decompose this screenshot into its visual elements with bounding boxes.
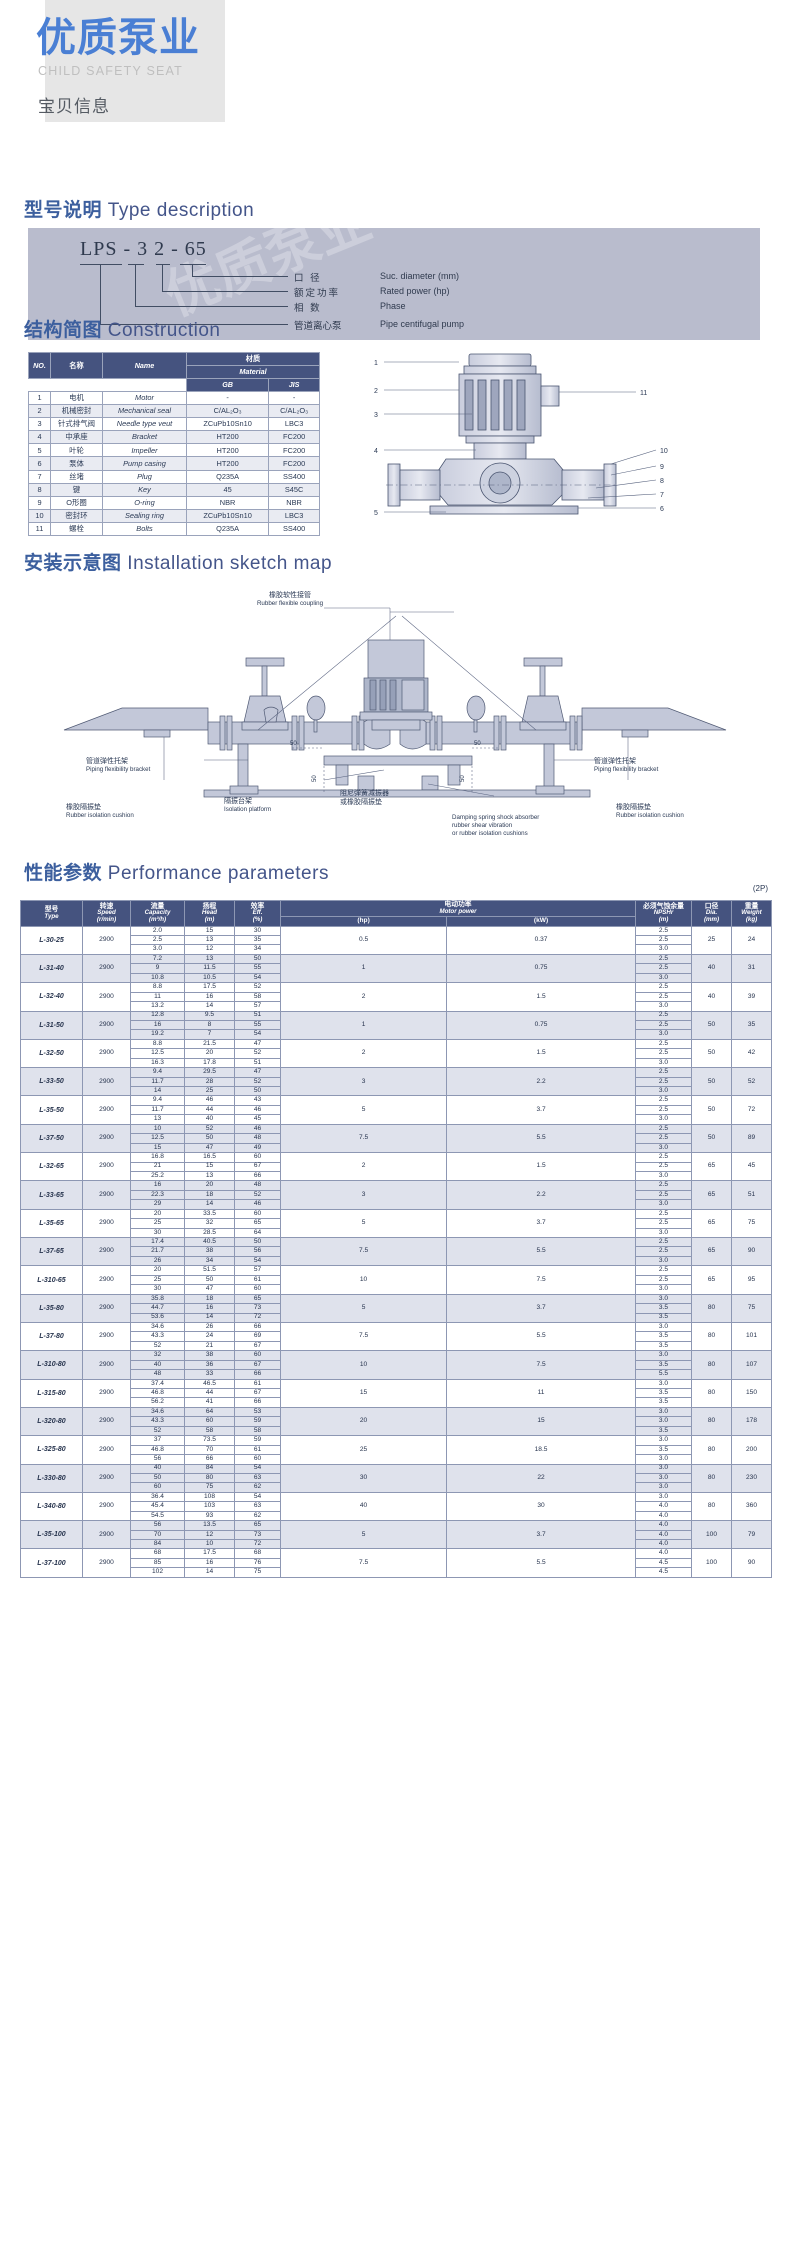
performance-cell-head: 33 (185, 1370, 235, 1379)
table-row: L-37-80290034.626667.55.53.080101 (21, 1322, 772, 1331)
performance-cell-dia: 100 (692, 1549, 732, 1577)
performance-cell-capacity: 70 (131, 1530, 185, 1539)
callout-6: 6 (660, 506, 664, 513)
performance-cell-npshr: 3.0 (636, 945, 692, 954)
performance-cell-eff: 45 (235, 1115, 281, 1124)
table-row: L-37-65290017.440.5507.55.52.56590 (21, 1238, 772, 1247)
performance-cell-npshr: 3.0 (636, 1473, 692, 1482)
callout-10: 10 (660, 448, 668, 455)
callout-isolation-platform: 隔振台架 Isolation platform (224, 796, 334, 813)
construction-cell-name-en: Needle type veut (103, 418, 187, 431)
performance-cell-npshr: 3.0 (636, 1285, 692, 1294)
performance-cell-speed: 2900 (83, 1322, 131, 1350)
performance-cell-capacity: 20 (131, 1266, 185, 1275)
performance-cell-hp: 5 (281, 1209, 447, 1237)
th-speed-unit: (r/min) (83, 917, 130, 923)
performance-cell-npshr: 4.0 (636, 1511, 692, 1520)
performance-cell-eff: 46 (235, 1105, 281, 1114)
brand-subtitle: 宝贝信息 (38, 92, 110, 117)
table-row: L-37-10029006817.5687.55.54.010090 (21, 1549, 772, 1558)
performance-cell-capacity: 84 (131, 1540, 185, 1549)
performance-cell-eff: 66 (235, 1370, 281, 1379)
performance-cell-npshr: 3.5 (636, 1398, 692, 1407)
construction-table-head: NO. 名称 Name 材质 Material GB JIS (29, 353, 320, 392)
performance-cell-speed: 2900 (83, 1124, 131, 1152)
type-description-title-en: Type description (108, 200, 254, 221)
performance-cell-eff: 60 (235, 1153, 281, 1162)
performance-cell-eff: 59 (235, 1436, 281, 1445)
performance-cell-eff: 35 (235, 936, 281, 945)
performance-cell-npshr: 2.5 (636, 1247, 692, 1256)
callout-rubber-coupling-en: Rubber flexible coupling (220, 600, 360, 607)
callout-damper-cn-block: 阻尼弹簧减振器 或橡胶隔振垫 (340, 790, 426, 808)
performance-cell-capacity: 16 (131, 1020, 185, 1029)
construction-cell-name-en: Motor (103, 392, 187, 405)
callout-11: 11 (640, 390, 647, 397)
performance-cell-head: 38 (185, 1247, 235, 1256)
performance-cell-capacity: 19.2 (131, 1030, 185, 1039)
th-material-cn: 材质 (187, 353, 320, 366)
performance-cell-speed: 2900 (83, 1266, 131, 1294)
performance-cell-weight: 90 (732, 1238, 772, 1266)
performance-cell-hp: 1 (281, 954, 447, 982)
performance-cell-npshr: 3.0 (636, 1200, 692, 1209)
performance-cell-npshr: 2.5 (636, 1275, 692, 1284)
performance-cell-weight: 95 (732, 1266, 772, 1294)
performance-cell-eff: 48 (235, 1134, 281, 1143)
performance-cell-head: 36 (185, 1360, 235, 1369)
performance-cell-capacity: 52 (131, 1341, 185, 1350)
performance-cell-capacity: 2.0 (131, 926, 185, 935)
performance-cell-head: 18 (185, 1190, 235, 1199)
construction-cell-jis: NBR (269, 496, 320, 509)
performance-cell-eff: 59 (235, 1417, 281, 1426)
performance-cell-head: 18 (185, 1294, 235, 1303)
performance-cell-capacity: 50 (131, 1473, 185, 1482)
performance-cell-capacity: 46.8 (131, 1445, 185, 1454)
th-material-en: Material (187, 366, 320, 379)
performance-cell-hp: 5 (281, 1521, 447, 1549)
callout-rubber-cushion-right-en: Rubber isolation cushion (616, 812, 756, 819)
performance-cell-capacity: 16.3 (131, 1058, 185, 1067)
performance-cell-head: 84 (185, 1464, 235, 1473)
performance-cell-npshr: 3.0 (636, 973, 692, 982)
performance-cell-eff: 73 (235, 1304, 281, 1313)
th-dia: 口径 Dia. (mm) (692, 901, 732, 927)
callout-3: 3 (374, 412, 378, 419)
performance-cell-kw: 7.5 (447, 1266, 636, 1294)
construction-cell-name-cn: 丝堵 (51, 470, 103, 483)
svg-text:50: 50 (474, 741, 481, 747)
performance-cell-eff: 67 (235, 1360, 281, 1369)
construction-cell-gb: HT200 (187, 457, 269, 470)
performance-cell-head: 46.5 (185, 1379, 235, 1388)
performance-cell-hp: 7.5 (281, 1322, 447, 1350)
th-dia-unit: (mm) (692, 917, 731, 923)
th-name-cn: 名称 (51, 353, 103, 379)
th-motor-power: 电动功率 Motor power (281, 901, 636, 917)
callout-piping-bracket-left: 管道弹性托架 Piping flexibility bracket (86, 756, 206, 773)
construction-cell-gb: Q235A (187, 522, 269, 535)
table-row: 9O形圈O-ringNBRNBR (29, 496, 320, 509)
callout-rubber-cushion-left-en: Rubber isolation cushion (66, 812, 196, 819)
performance-cell-eff: 69 (235, 1332, 281, 1341)
performance-cell-dia: 50 (692, 1039, 732, 1067)
performance-cell-npshr: 3.0 (636, 1351, 692, 1360)
performance-cell-head: 14 (185, 1313, 235, 1322)
performance-cell-eff: 53 (235, 1407, 281, 1416)
pole-note: (2P) (753, 884, 768, 893)
performance-cell-capacity: 56 (131, 1521, 185, 1530)
performance-cell-head: 58 (185, 1426, 235, 1435)
construction-std-row: GB JIS (29, 379, 320, 392)
performance-cell-hp: 25 (281, 1436, 447, 1464)
performance-cell-dia: 40 (692, 983, 732, 1011)
performance-cell-eff: 62 (235, 1483, 281, 1492)
performance-cell-kw: 5.5 (447, 1549, 636, 1577)
performance-cell-model: L-35-50 (21, 1096, 83, 1124)
performance-cell-npshr: 3.5 (636, 1389, 692, 1398)
performance-cell-weight: 35 (732, 1011, 772, 1039)
performance-cell-npshr: 4.5 (636, 1558, 692, 1567)
performance-cell-npshr: 2.5 (636, 1162, 692, 1171)
performance-title-en: Performance parameters (108, 863, 329, 884)
performance-cell-kw: 3.7 (447, 1294, 636, 1322)
construction-cell-jis: LBC3 (269, 418, 320, 431)
performance-cell-capacity: 35.8 (131, 1294, 185, 1303)
legend-label-en-0: Suc. diameter (mm) (380, 271, 459, 281)
callout-5: 5 (374, 510, 378, 517)
performance-cell-capacity: 43.3 (131, 1417, 185, 1426)
code-underline-2 (128, 264, 144, 265)
performance-cell-kw: 7.5 (447, 1351, 636, 1379)
performance-cell-eff: 72 (235, 1313, 281, 1322)
table-row: 3针式排气阀Needle type veutZCuPb10Sn10LBC3 (29, 418, 320, 431)
performance-cell-capacity: 21.7 (131, 1247, 185, 1256)
performance-cell-speed: 2900 (83, 983, 131, 1011)
performance-cell-model: L-310-80 (21, 1351, 83, 1379)
performance-cell-npshr: 5.5 (636, 1370, 692, 1379)
performance-cell-dia: 65 (692, 1209, 732, 1237)
performance-cell-eff: 66 (235, 1398, 281, 1407)
construction-cell-no: 10 (29, 509, 51, 522)
performance-cell-eff: 54 (235, 1464, 281, 1473)
callout-damper-en: Damping spring shock absorber rubber she… (452, 814, 632, 837)
performance-cell-weight: 39 (732, 983, 772, 1011)
table-row: L-33-5029009.429.54732.22.55052 (21, 1068, 772, 1077)
performance-cell-weight: 89 (732, 1124, 772, 1152)
performance-cell-head: 93 (185, 1511, 235, 1520)
performance-cell-eff: 65 (235, 1521, 281, 1530)
performance-cell-hp: 0.5 (281, 926, 447, 954)
performance-cell-weight: 75 (732, 1209, 772, 1237)
performance-cell-capacity: 30 (131, 1228, 185, 1237)
performance-cell-capacity: 12.5 (131, 1134, 185, 1143)
performance-table-wrap: 型号 Type 转速 Speed (r/min) 流量 Capacity (m³… (20, 900, 772, 1578)
performance-cell-npshr: 3.0 (636, 1407, 692, 1416)
performance-cell-npshr: 2.5 (636, 1190, 692, 1199)
performance-cell-capacity: 9.4 (131, 1068, 185, 1077)
performance-cell-eff: 48 (235, 1181, 281, 1190)
performance-cell-eff: 54 (235, 973, 281, 982)
performance-cell-capacity: 11 (131, 992, 185, 1001)
callout-piping-bracket-left-cn: 管道弹性托架 (86, 756, 206, 766)
performance-cell-speed: 2900 (83, 1492, 131, 1520)
th-type: 型号 Type (21, 901, 83, 927)
performance-cell-head: 17.5 (185, 983, 235, 992)
th-name-en: Name (103, 353, 187, 379)
performance-cell-dia: 25 (692, 926, 732, 954)
table-row: L-315-80290037.446.56115113.080150 (21, 1379, 772, 1388)
performance-cell-capacity: 30 (131, 1285, 185, 1294)
performance-cell-npshr: 3.0 (636, 1436, 692, 1445)
performance-cell-head: 13 (185, 954, 235, 963)
performance-cell-head: 40.5 (185, 1238, 235, 1247)
construction-cell-no: 8 (29, 483, 51, 496)
leader-h-1 (192, 276, 288, 277)
performance-cell-kw: 30 (447, 1492, 636, 1520)
performance-cell-eff: 47 (235, 1068, 281, 1077)
performance-cell-npshr: 4.0 (636, 1521, 692, 1530)
performance-cell-npshr: 2.5 (636, 1153, 692, 1162)
performance-cell-model: L-33-65 (21, 1181, 83, 1209)
performance-cell-dia: 80 (692, 1464, 732, 1492)
performance-cell-npshr: 2.5 (636, 936, 692, 945)
performance-cell-head: 14 (185, 1002, 235, 1011)
performance-cell-head: 20 (185, 1049, 235, 1058)
performance-cell-capacity: 40 (131, 1464, 185, 1473)
performance-cell-capacity: 25 (131, 1219, 185, 1228)
performance-cell-eff: 58 (235, 1426, 281, 1435)
performance-cell-head: 7 (185, 1030, 235, 1039)
performance-cell-hp: 5 (281, 1294, 447, 1322)
performance-parameters-table: 型号 Type 转速 Speed (r/min) 流量 Capacity (m³… (20, 900, 772, 1578)
performance-cell-head: 108 (185, 1492, 235, 1501)
performance-cell-weight: 150 (732, 1379, 772, 1407)
construction-cell-name-en: Pump casing (103, 457, 187, 470)
th-head: 扬程 Head (m) (185, 901, 235, 927)
performance-heading: 性能参数 Performance parameters (0, 858, 329, 885)
performance-cell-eff: 52 (235, 983, 281, 992)
performance-cell-dia: 65 (692, 1181, 732, 1209)
callout-9: 9 (660, 464, 664, 471)
performance-cell-npshr: 3.5 (636, 1426, 692, 1435)
performance-cell-kw: 1.5 (447, 1039, 636, 1067)
performance-cell-eff: 54 (235, 1256, 281, 1265)
performance-cell-eff: 60 (235, 1455, 281, 1464)
performance-cell-eff: 49 (235, 1143, 281, 1152)
performance-cell-capacity: 22.3 (131, 1190, 185, 1199)
performance-cell-eff: 75 (235, 1568, 281, 1577)
construction-cell-no: 2 (29, 405, 51, 418)
performance-cell-head: 8 (185, 1020, 235, 1029)
performance-cell-capacity: 13.2 (131, 1002, 185, 1011)
construction-cell-no: 4 (29, 431, 51, 444)
performance-cell-capacity: 46.8 (131, 1389, 185, 1398)
performance-cell-capacity: 13 (131, 1115, 185, 1124)
performance-cell-head: 12 (185, 1530, 235, 1539)
performance-cell-eff: 60 (235, 1285, 281, 1294)
performance-cell-eff: 60 (235, 1209, 281, 1218)
performance-cell-model: L-37-80 (21, 1322, 83, 1350)
table-row: L-310-6529002051.557107.52.56595 (21, 1266, 772, 1275)
performance-cell-weight: 230 (732, 1464, 772, 1492)
performance-cell-capacity: 29 (131, 1200, 185, 1209)
construction-heading: 结构简图 Construction (0, 315, 220, 342)
performance-cell-weight: 31 (732, 954, 772, 982)
table-row: 8键Key45S45C (29, 483, 320, 496)
performance-cell-eff: 61 (235, 1445, 281, 1454)
construction-cell-no: 1 (29, 392, 51, 405)
performance-cell-weight: 360 (732, 1492, 772, 1520)
brand-header: 优质泵业 CHILD SAFETY SEAT 宝贝信息 (0, 0, 790, 130)
th-type-en: Type (21, 914, 82, 920)
construction-cell-no: 9 (29, 496, 51, 509)
performance-cell-kw: 5.5 (447, 1124, 636, 1152)
legend-label-en-3: Pipe centifugal pump (380, 319, 464, 329)
performance-cell-npshr: 2.5 (636, 1181, 692, 1190)
performance-cell-eff: 64 (235, 1228, 281, 1237)
construction-cell-jis: SS400 (269, 470, 320, 483)
performance-cell-npshr: 4.0 (636, 1549, 692, 1558)
performance-cell-capacity: 8.8 (131, 1039, 185, 1048)
performance-cell-kw: 15 (447, 1407, 636, 1435)
construction-cell-name-en: Impeller (103, 444, 187, 457)
construction-cell-no: 3 (29, 418, 51, 431)
performance-cell-kw: 3.7 (447, 1096, 636, 1124)
performance-cell-model: L-325-80 (21, 1436, 83, 1464)
construction-cell-no: 7 (29, 470, 51, 483)
performance-cell-head: 34 (185, 1256, 235, 1265)
performance-cell-speed: 2900 (83, 1294, 131, 1322)
performance-cell-eff: 34 (235, 945, 281, 954)
legend-label-cn-0: 口 径 (294, 270, 322, 284)
performance-cell-model: L-30-25 (21, 926, 83, 954)
performance-cell-eff: 66 (235, 1322, 281, 1331)
performance-cell-capacity: 12.8 (131, 1011, 185, 1020)
callout-2: 2 (374, 388, 378, 395)
code-underline-3 (156, 264, 170, 265)
performance-cell-kw: 2.2 (447, 1068, 636, 1096)
performance-cell-head: 11.5 (185, 964, 235, 973)
performance-cell-weight: 52 (732, 1068, 772, 1096)
performance-cell-npshr: 3.5 (636, 1341, 692, 1350)
performance-cell-npshr: 3.0 (636, 1464, 692, 1473)
construction-cell-name-en: Key (103, 483, 187, 496)
performance-cell-hp: 2 (281, 1039, 447, 1067)
performance-cell-capacity: 25.2 (131, 1171, 185, 1180)
performance-cell-eff: 46 (235, 1200, 281, 1209)
performance-cell-npshr: 2.5 (636, 1134, 692, 1143)
performance-cell-head: 25 (185, 1087, 235, 1096)
performance-cell-capacity: 37.4 (131, 1379, 185, 1388)
performance-cell-eff: 68 (235, 1549, 281, 1558)
performance-cell-hp: 10 (281, 1351, 447, 1379)
brand-name-en: CHILD SAFETY SEAT (38, 64, 183, 78)
performance-cell-speed: 2900 (83, 1407, 131, 1435)
performance-cell-hp: 30 (281, 1464, 447, 1492)
th-hp: (hp) (281, 917, 447, 927)
performance-cell-dia: 50 (692, 1068, 732, 1096)
performance-cell-head: 52 (185, 1124, 235, 1133)
table-row: L-30-2529002.015300.50.372.52524 (21, 926, 772, 935)
performance-cell-eff: 46 (235, 1124, 281, 1133)
performance-cell-head: 17.8 (185, 1058, 235, 1067)
performance-cell-head: 21 (185, 1341, 235, 1350)
table-row: 11螺栓BoltsQ235ASS400 (29, 522, 320, 535)
performance-cell-npshr: 3.0 (636, 1455, 692, 1464)
performance-cell-weight: 178 (732, 1407, 772, 1435)
performance-cell-npshr: 3.0 (636, 1143, 692, 1152)
construction-title-en: Construction (108, 320, 221, 341)
callout-1: 1 (374, 360, 378, 367)
th-kw: (kW) (447, 917, 636, 927)
performance-cell-eff: 50 (235, 1238, 281, 1247)
performance-cell-npshr: 2.5 (636, 1105, 692, 1114)
performance-cell-weight: 79 (732, 1521, 772, 1549)
construction-cell-jis: S45C (269, 483, 320, 496)
construction-drawing: 1 2 3 4 5 11 10 9 8 7 6 (326, 340, 760, 530)
performance-cell-npshr: 2.5 (636, 1219, 692, 1228)
construction-cell-name-cn: 泵体 (51, 457, 103, 470)
construction-cell-jis: FC200 (269, 431, 320, 444)
performance-cell-npshr: 2.5 (636, 954, 692, 963)
performance-cell-capacity: 25 (131, 1275, 185, 1284)
performance-cell-npshr: 3.5 (636, 1313, 692, 1322)
performance-cell-kw: 5.5 (447, 1238, 636, 1266)
table-row: L-35-6529002033.56053.72.56575 (21, 1209, 772, 1218)
performance-cell-head: 20 (185, 1181, 235, 1190)
table-row: 2机械密封Mechanical sealC/AL₂O₃C/AL₂O₃ (29, 405, 320, 418)
table-row: L-310-802900323860107.53.080107 (21, 1351, 772, 1360)
performance-cell-npshr: 3.0 (636, 1002, 692, 1011)
performance-cell-capacity: 15 (131, 1143, 185, 1152)
performance-cell-speed: 2900 (83, 1521, 131, 1549)
performance-cell-npshr: 2.5 (636, 1039, 692, 1048)
performance-cell-weight: 24 (732, 926, 772, 954)
performance-cell-head: 41 (185, 1398, 235, 1407)
table-row: L-320-80290034.6645320153.080178 (21, 1407, 772, 1416)
performance-cell-head: 50 (185, 1275, 235, 1284)
performance-cell-speed: 2900 (83, 1181, 131, 1209)
performance-cell-kw: 5.5 (447, 1322, 636, 1350)
performance-cell-capacity: 10.8 (131, 973, 185, 982)
table-row: L-330-80290040845430223.080230 (21, 1464, 772, 1473)
performance-cell-eff: 60 (235, 1351, 281, 1360)
performance-cell-kw: 0.37 (447, 926, 636, 954)
construction-cell-gb: 45 (187, 483, 269, 496)
performance-cell-model: L-35-65 (21, 1209, 83, 1237)
performance-cell-kw: 3.7 (447, 1521, 636, 1549)
performance-cell-npshr: 3.0 (636, 1256, 692, 1265)
performance-cell-capacity: 16 (131, 1181, 185, 1190)
construction-cell-name-cn: 键 (51, 483, 103, 496)
construction-cell-name-cn: 叶轮 (51, 444, 103, 457)
performance-cell-head: 28.5 (185, 1228, 235, 1237)
callout-piping-bracket-right-cn: 管道弹性托架 (594, 756, 724, 766)
performance-cell-eff: 61 (235, 1379, 281, 1388)
performance-cell-dia: 80 (692, 1294, 732, 1322)
performance-cell-capacity: 7.2 (131, 954, 185, 963)
performance-cell-dia: 80 (692, 1379, 732, 1407)
performance-cell-head: 66 (185, 1455, 235, 1464)
performance-cell-capacity: 14 (131, 1087, 185, 1096)
performance-cell-capacity: 45.4 (131, 1502, 185, 1511)
callout-piping-bracket-right-en: Piping flexibility bracket (594, 766, 724, 773)
performance-cell-capacity: 9 (131, 964, 185, 973)
performance-cell-head: 32 (185, 1219, 235, 1228)
performance-cell-head: 13.5 (185, 1521, 235, 1530)
